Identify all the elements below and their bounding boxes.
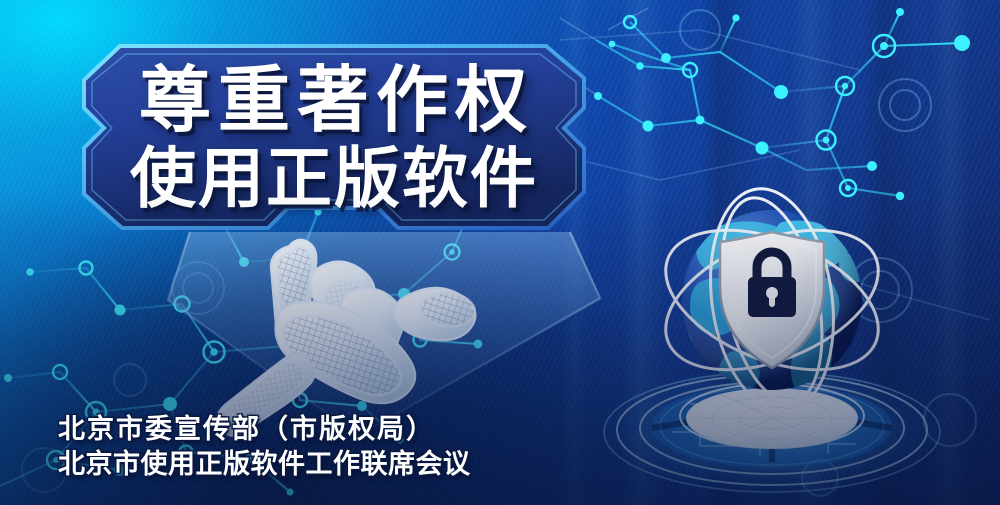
headline-line-1: 尊重著作权: [132, 65, 534, 137]
footer-credits: 北京市委宣传部（市版权局） 北京市使用正版软件工作联席会议: [58, 412, 471, 483]
headline-line-2: 使用正版软件: [128, 145, 538, 211]
shield-icon: [720, 232, 824, 368]
headline-banner: 尊重著作权 使用正版软件: [78, 42, 588, 234]
padlock-icon: [748, 252, 796, 317]
footer-line-1: 北京市委宣传部（市版权局）: [58, 412, 471, 448]
footer-line-2: 北京市使用正版软件工作联席会议: [58, 447, 471, 483]
poster-banner: 尊重著作权 使用正版软件 北京市委宣传部（市版权局） 北京市使用正版软件工作联席…: [0, 0, 1000, 505]
